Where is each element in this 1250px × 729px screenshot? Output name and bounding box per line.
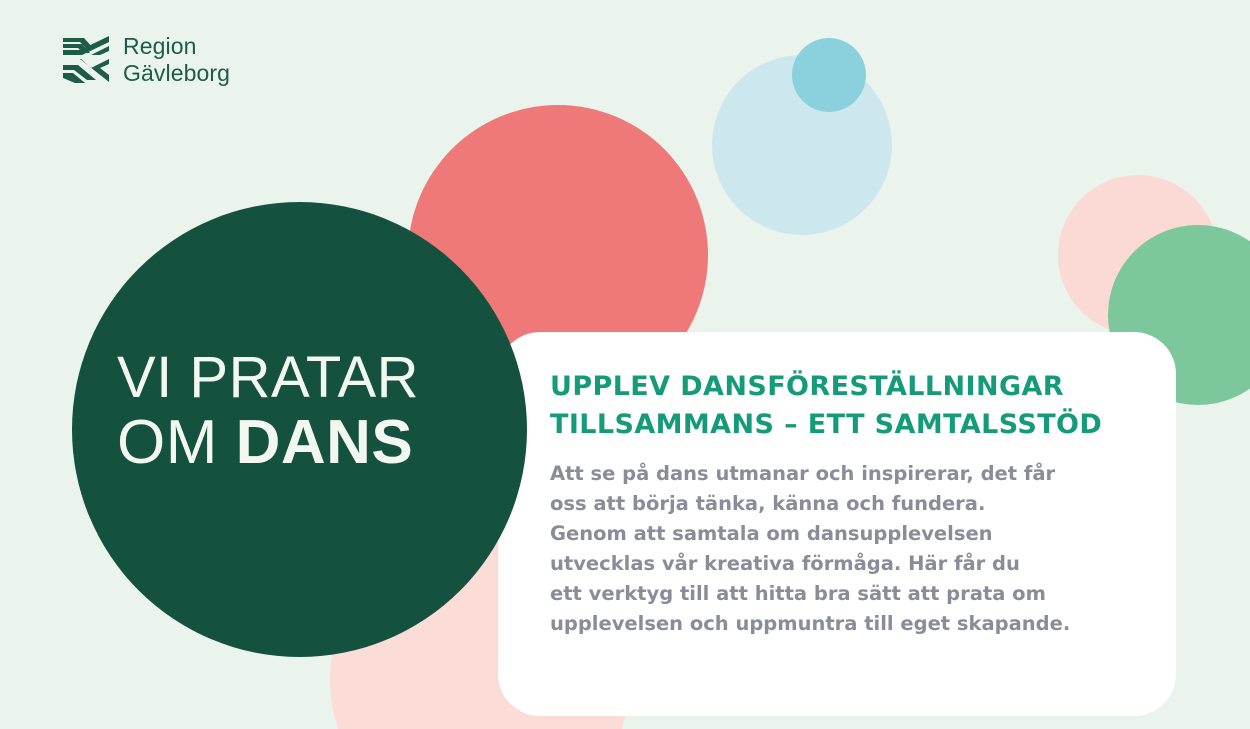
- hero-title: VI PRATAR OM DANS: [117, 347, 492, 477]
- cyan-circle: [792, 38, 866, 112]
- hero-title-line-2-bold: DANS: [236, 408, 414, 477]
- region-gavleborg-logo: Region Gävleborg: [60, 33, 230, 87]
- hero-title-line-2-regular: OM: [117, 408, 236, 477]
- region-gavleborg-x-mark: [60, 34, 112, 86]
- hero-circle: VI PRATAR OM DANS: [72, 202, 527, 657]
- content-card-inner: UPPLEV DANSFÖRESTÄLLNINGAR TILLSAMMANS –…: [550, 368, 1146, 639]
- logo-word-region: Region: [123, 33, 230, 60]
- logo-word-gavleborg: Gävleborg: [123, 60, 230, 87]
- logo-wordmark: Region Gävleborg: [123, 33, 230, 87]
- content-card: UPPLEV DANSFÖRESTÄLLNINGAR TILLSAMMANS –…: [498, 332, 1176, 716]
- card-body-text: Att se på dans utmanar och inspirerar, d…: [550, 459, 1146, 639]
- hero-title-line-1: VI PRATAR: [117, 347, 492, 410]
- poster-canvas: UPPLEV DANSFÖRESTÄLLNINGAR TILLSAMMANS –…: [0, 0, 1250, 729]
- card-heading: UPPLEV DANSFÖRESTÄLLNINGAR TILLSAMMANS –…: [550, 368, 1146, 445]
- hero-title-line-2: OM DANS: [117, 410, 492, 477]
